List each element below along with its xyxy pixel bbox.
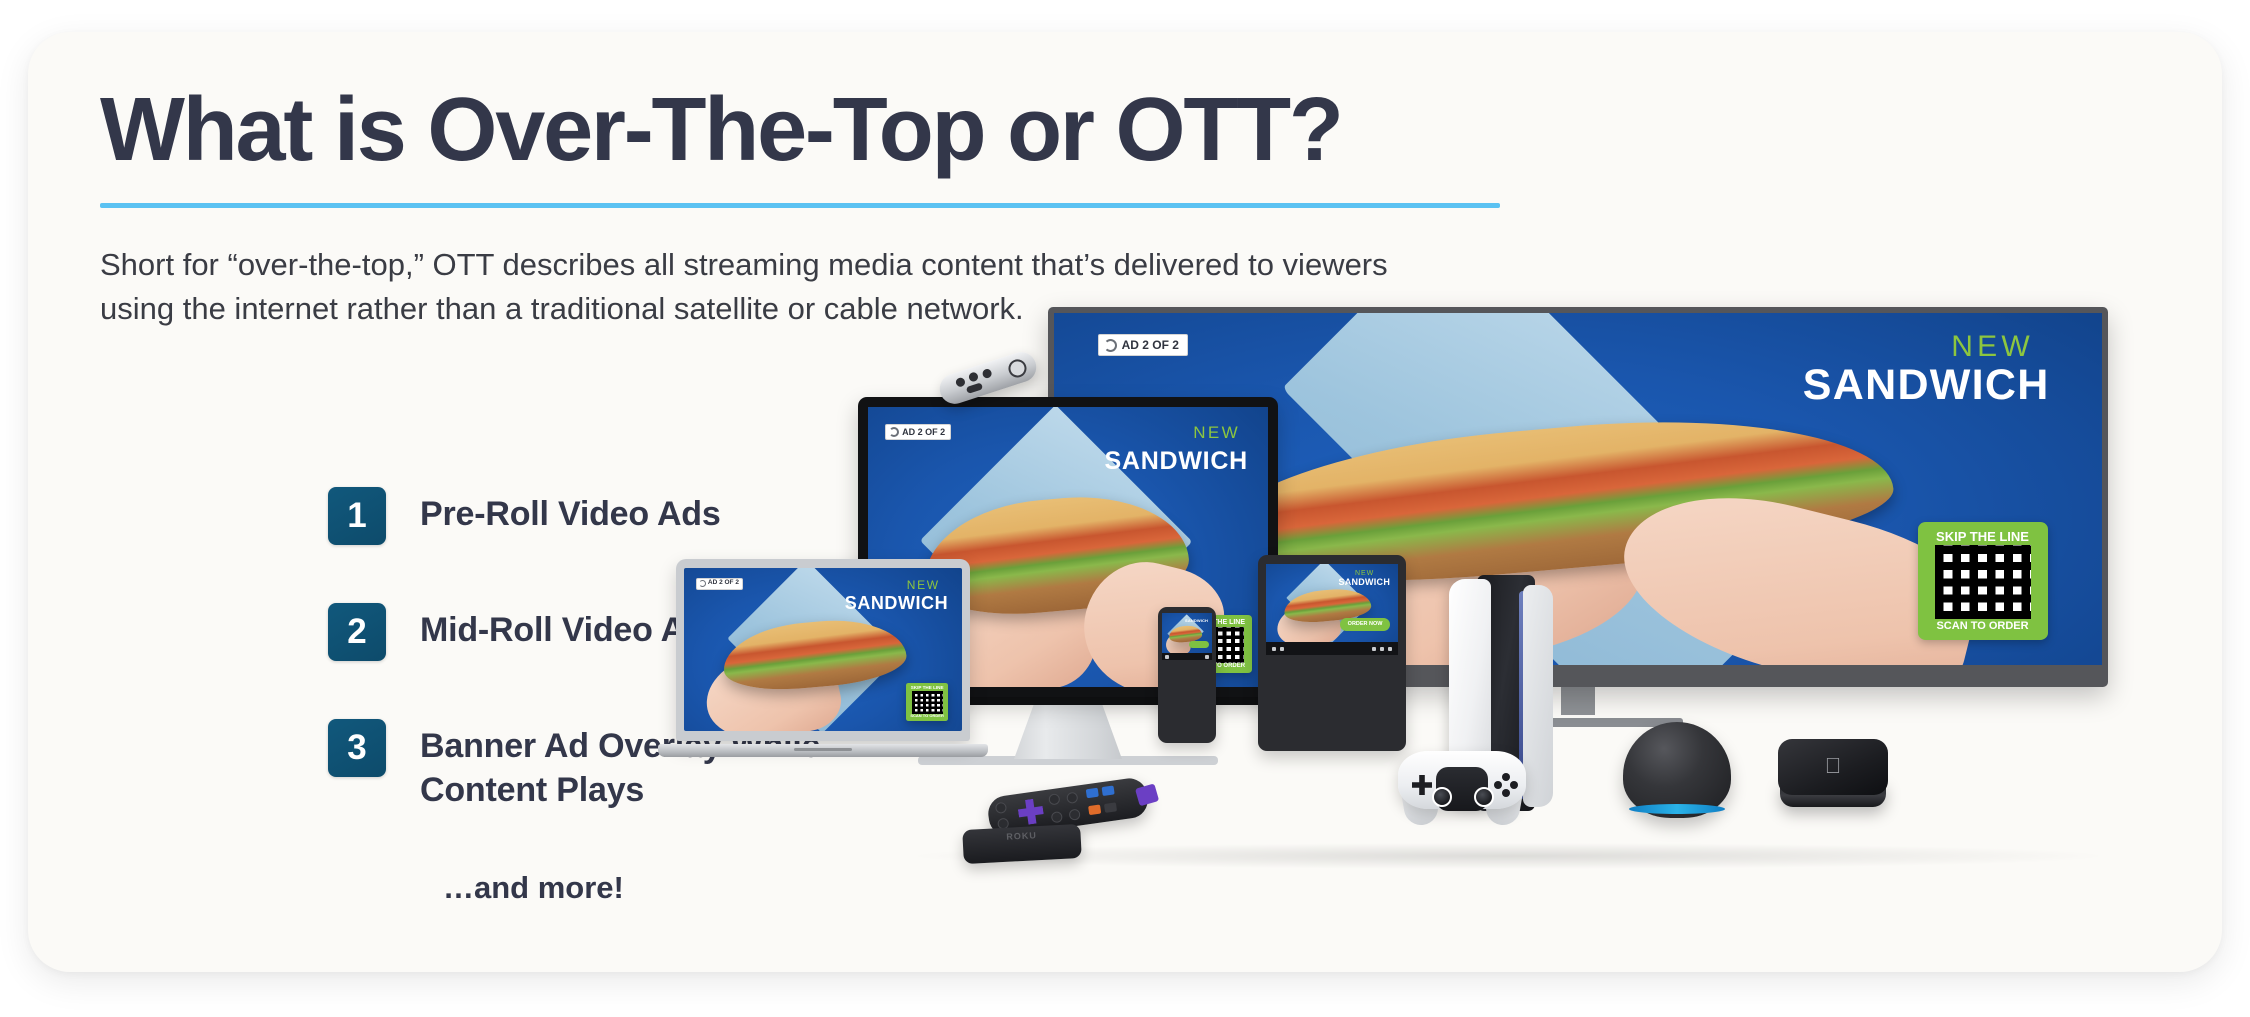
fullscreen-icon[interactable] bbox=[1388, 647, 1392, 651]
console-side-panel bbox=[1523, 585, 1553, 807]
order-now-button[interactable]: ORDER NOW bbox=[1340, 618, 1390, 631]
ad-eyebrow-text: NEW bbox=[1193, 424, 1240, 441]
qr-headline: SKIP THE LINE bbox=[1936, 530, 2029, 543]
video-player-controls[interactable] bbox=[1162, 653, 1212, 660]
tv-button-icon bbox=[968, 371, 979, 382]
qr-cta-card[interactable]: SKIP THE LINE SCAN TO ORDER bbox=[1918, 522, 2048, 640]
device-cluster-image: AD 2 OF 2 NEW SANDWICH SKIP THE LINE SCA… bbox=[858, 307, 2188, 957]
play-pause-button-icon bbox=[1068, 808, 1080, 820]
play-icon[interactable] bbox=[1272, 647, 1276, 651]
fullscreen-icon[interactable] bbox=[1205, 655, 1209, 659]
ad-brand-text: SANDWICH bbox=[845, 594, 948, 612]
monitor-stand bbox=[993, 701, 1143, 759]
tv-streaming-box:  bbox=[1778, 739, 1888, 821]
apple-logo-icon:  bbox=[1825, 755, 1842, 777]
ad-eyebrow-text: NEW bbox=[907, 579, 940, 591]
cross-button-icon bbox=[1502, 789, 1510, 797]
ad-counter-label: AD 2 OF 2 bbox=[1122, 339, 1179, 351]
cluster-ground-shadow bbox=[918, 843, 2098, 869]
ad-counter-label: AD 2 OF 2 bbox=[708, 580, 739, 587]
ad-counter-badge: AD 2 OF 2 bbox=[696, 578, 743, 590]
controller-face-buttons bbox=[1494, 773, 1518, 797]
triangle-button-icon bbox=[1502, 773, 1510, 781]
usb-connector bbox=[1135, 783, 1159, 806]
ad-creative: NEW SANDWICH ORDER NOW bbox=[1266, 564, 1398, 642]
rewind-button-icon bbox=[1066, 792, 1078, 804]
ad-spinner-icon bbox=[1104, 339, 1117, 352]
settings-icon[interactable] bbox=[1372, 647, 1376, 651]
play-pause-button-icon bbox=[966, 382, 983, 394]
picture-in-picture-icon[interactable] bbox=[1380, 647, 1384, 651]
channel-shortcut-icon bbox=[1102, 785, 1115, 796]
options-button-icon bbox=[1051, 811, 1063, 823]
ad-brand-text: SANDWICH bbox=[1803, 364, 2050, 407]
smart-speaker bbox=[1623, 722, 1731, 818]
qr-code-icon bbox=[1935, 545, 2031, 619]
laptop-trackpad-notch bbox=[794, 748, 852, 751]
phone-video-player: SANDWICH bbox=[1162, 613, 1212, 653]
list-item-number-badge: 2 bbox=[328, 603, 386, 661]
list-item: 1 Pre-Roll Video Ads bbox=[328, 487, 948, 545]
volume-icon[interactable] bbox=[1280, 647, 1284, 651]
ad-creative: AD 2 OF 2 NEW SANDWICH SKIP THE LINE SCA… bbox=[684, 568, 962, 731]
player-right-controls[interactable] bbox=[1372, 647, 1392, 651]
laptop: AD 2 OF 2 NEW SANDWICH SKIP THE LINE SCA… bbox=[658, 559, 988, 757]
controller-body bbox=[1398, 751, 1526, 809]
ad-counter-badge: AD 2 OF 2 bbox=[1098, 334, 1188, 356]
list-item-number-badge: 3 bbox=[328, 719, 386, 777]
channel-shortcut-icon bbox=[1088, 805, 1101, 816]
ad-brand-text: SANDWICH bbox=[1185, 619, 1208, 623]
dpad-icon bbox=[1412, 775, 1432, 795]
title-underline-rule bbox=[100, 203, 1500, 208]
ad-brand-text: SANDWICH bbox=[1338, 578, 1390, 587]
speaker-light-ring bbox=[1629, 804, 1725, 814]
qr-subline: SCAN TO ORDER bbox=[1936, 621, 2028, 632]
remote-clickpad-icon bbox=[1006, 357, 1029, 380]
circle-button-icon bbox=[1510, 781, 1518, 789]
player-left-controls[interactable] bbox=[1272, 647, 1284, 651]
smartphone: SANDWICH bbox=[1158, 607, 1216, 743]
channel-shortcut-icon bbox=[1086, 788, 1099, 799]
ad-counter-badge: AD 2 OF 2 bbox=[885, 424, 951, 441]
ad-spinner-icon bbox=[889, 427, 899, 437]
back-button-icon bbox=[955, 377, 966, 388]
qr-subline: SCAN TO ORDER bbox=[910, 714, 943, 718]
ad-counter-label: AD 2 OF 2 bbox=[902, 428, 945, 437]
streaming-box-logo: ROKU bbox=[1006, 830, 1037, 842]
list-item-number-badge: 1 bbox=[328, 487, 386, 545]
info-card: What is Over-The-Top or OTT? Short for “… bbox=[28, 32, 2222, 972]
mute-button-icon bbox=[981, 368, 992, 379]
laptop-lid: AD 2 OF 2 NEW SANDWICH SKIP THE LINE SCA… bbox=[676, 559, 970, 741]
left-analog-stick bbox=[1432, 787, 1452, 807]
right-analog-stick bbox=[1474, 787, 1494, 807]
ad-eyebrow-text: NEW bbox=[1951, 332, 2034, 362]
streaming-box: ROKU bbox=[962, 824, 1082, 864]
page-title: What is Over-The-Top or OTT? bbox=[100, 82, 1520, 179]
ad-spinner-icon bbox=[699, 580, 706, 587]
streaming-box-top:  bbox=[1778, 739, 1888, 795]
list-item-label: Pre-Roll Video Ads bbox=[420, 487, 721, 537]
tablet-screen: NEW SANDWICH ORDER NOW bbox=[1266, 564, 1398, 742]
qr-cta-card[interactable]: SKIP THE LINE SCAN TO ORDER bbox=[906, 683, 948, 721]
laptop-screen: AD 2 OF 2 NEW SANDWICH SKIP THE LINE SCA… bbox=[684, 568, 962, 731]
order-now-button[interactable] bbox=[1189, 641, 1209, 648]
remote-dpad-icon bbox=[1017, 798, 1045, 826]
ad-creative: SANDWICH bbox=[1162, 613, 1212, 653]
qr-code-icon bbox=[912, 691, 943, 714]
replay-button-icon bbox=[1048, 793, 1060, 805]
tablet-video-player: NEW SANDWICH ORDER NOW bbox=[1266, 564, 1398, 642]
ad-brand-text: SANDWICH bbox=[1105, 449, 1249, 474]
phone-body: SANDWICH bbox=[1158, 607, 1216, 743]
channel-shortcut-icon bbox=[1104, 802, 1117, 813]
headline-block: What is Over-The-Top or OTT? Short for “… bbox=[100, 82, 1520, 331]
back-button-icon bbox=[995, 802, 1007, 814]
game-controller bbox=[1398, 739, 1526, 825]
video-player-controls[interactable] bbox=[1266, 642, 1398, 655]
square-button-icon bbox=[1494, 781, 1502, 789]
play-icon[interactable] bbox=[1165, 655, 1169, 659]
tablet: NEW SANDWICH ORDER NOW bbox=[1258, 555, 1406, 751]
tablet-body: NEW SANDWICH ORDER NOW bbox=[1258, 555, 1406, 751]
